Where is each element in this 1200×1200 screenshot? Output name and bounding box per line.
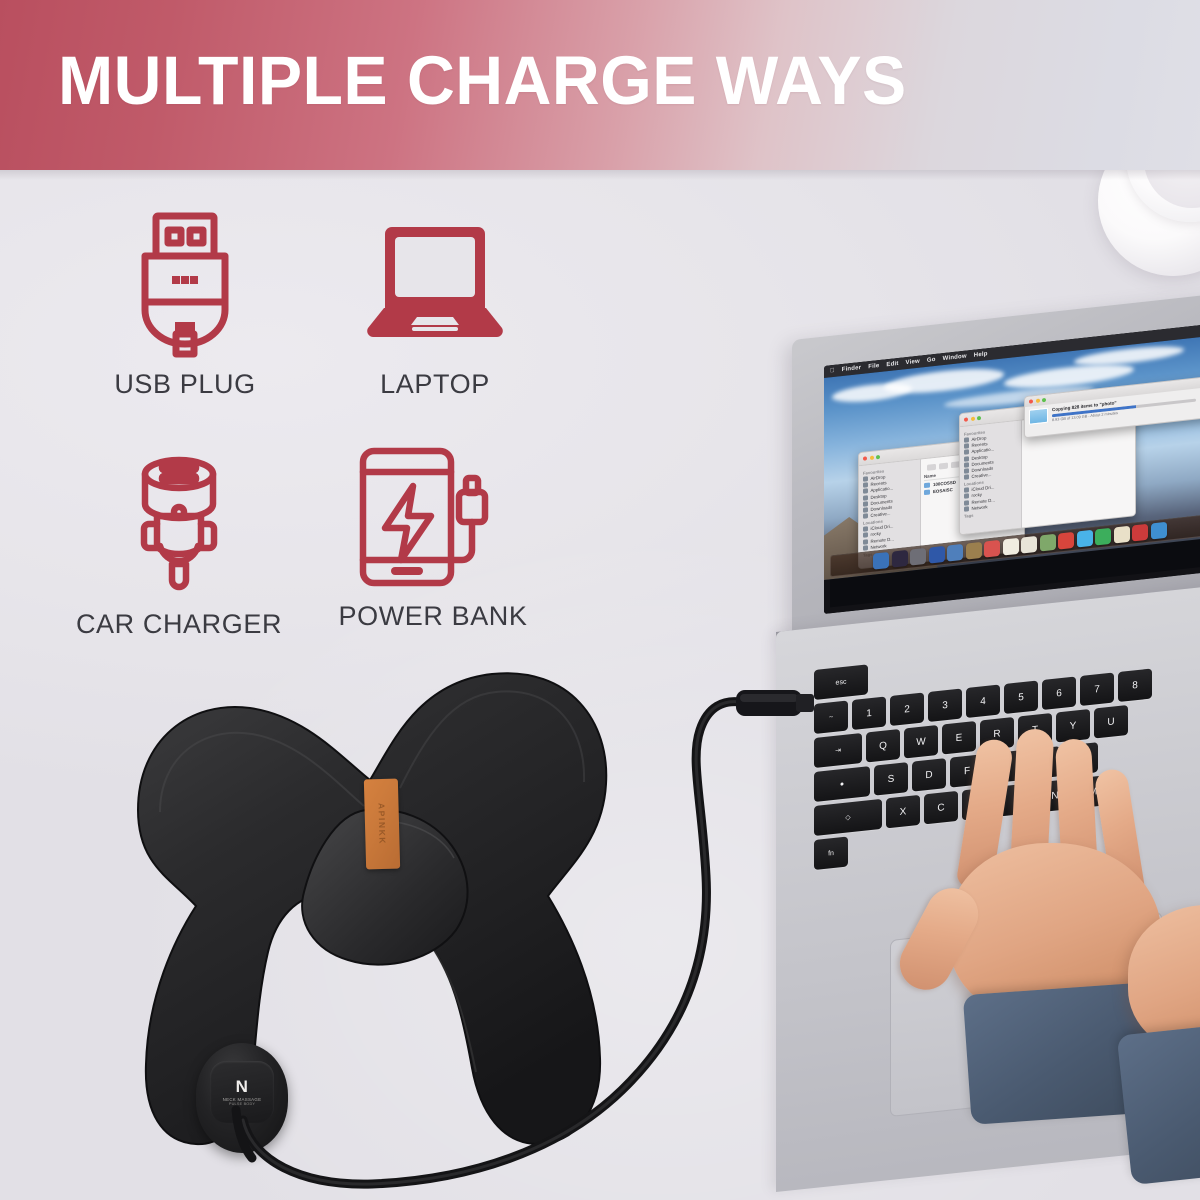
feature-laptop: LAPTOP [310,205,560,400]
feature-car-charger: CAR CHARGER [54,445,304,640]
brand-logo: N [236,1079,249,1095]
laptop-icon [310,205,560,365]
file-thumbnail [1029,408,1048,425]
close-icon[interactable] [1029,399,1033,403]
minimize-icon[interactable] [971,417,975,421]
dock-icon-finder[interactable] [873,552,889,570]
header-shadow [0,170,1200,180]
view-icon[interactable] [927,464,936,471]
brand-tag-text: APINKK [364,779,400,870]
finder-sidebar[interactable]: Favourites AirDrop Recents Applicatio...… [960,420,1022,535]
icloud-icon [964,487,969,493]
menu-view[interactable]: View [906,359,920,367]
folder-icon [863,513,868,519]
page-title: MULTIPLE CHARGE WAYS [58,42,907,120]
key-q[interactable]: Q [866,729,900,763]
airdrop-icon [964,437,969,443]
menu-help[interactable]: Help [974,351,988,359]
recents-icon [964,443,969,449]
minimize-icon[interactable] [870,456,874,460]
close-icon[interactable] [964,417,968,421]
maximize-icon[interactable] [876,455,880,459]
laptop-screen:  Finder File Edit View Go Window Help [824,323,1200,614]
massager-pad [100,660,720,1180]
key-tilde[interactable]: ~ [814,700,848,734]
key-7[interactable]: 7 [1080,672,1114,706]
control-pod[interactable]: N NECK MASSAGE PULSE BODY [196,1043,288,1153]
dock-icon-browser[interactable] [929,546,945,564]
usb-plug-icon [60,205,310,365]
network-icon [964,506,969,512]
shirt-sleeve [1117,1015,1200,1185]
airdrop-icon [863,476,868,482]
maximize-icon[interactable] [1042,398,1046,402]
documents-icon [964,462,969,468]
key-8[interactable]: 8 [1118,668,1152,702]
dock-icon-reminders[interactable] [1114,526,1130,544]
desktop-icon [964,456,969,462]
macos-desktop: Favourites AirDrop Recents Applicatio...… [824,335,1200,580]
key-esc[interactable]: esc [814,664,868,700]
dock-icon-colors[interactable] [1058,532,1074,550]
close-icon[interactable] [863,456,867,460]
feature-label: USB PLUG [60,369,310,400]
dock-icon-launchpad[interactable] [892,550,908,568]
pod-line-2: PULSE BODY [229,1102,255,1106]
applications-icon [964,450,969,456]
brand-leather-tag: APINKK [364,779,400,870]
disc-icon [863,539,868,545]
feature-label: CAR CHARGER [54,609,304,640]
dock-icon-facetime[interactable] [1095,528,1111,546]
folder-icon [964,474,969,480]
feature-power-bank: POWER BANK [308,437,558,632]
maximize-icon[interactable] [977,416,981,420]
applications-icon [863,489,868,495]
header-banner: MULTIPLE CHARGE WAYS [0,0,1200,170]
drive-icon [863,533,868,539]
key-fn[interactable]: fn [814,836,848,870]
menu-file[interactable]: File [868,363,879,370]
dock-icon-books[interactable] [1021,536,1037,554]
key-u[interactable]: U [1094,705,1128,739]
documents-icon [863,501,868,507]
icloud-icon [863,526,868,532]
network-icon [863,545,868,551]
cloud [884,364,1004,397]
menu-edit[interactable]: Edit [886,361,898,368]
folder-icon [924,482,930,488]
key-s[interactable]: S [874,762,908,796]
key-6[interactable]: 6 [1042,676,1076,710]
control-pod-face[interactable]: N NECK MASSAGE PULSE BODY [210,1061,274,1123]
dock-icon-preview[interactable] [1040,534,1056,552]
disc-icon [964,500,969,506]
key-3[interactable]: 3 [928,688,962,722]
key-2[interactable]: 2 [890,692,924,726]
power-bank-icon [308,437,558,597]
downloads-icon [863,507,868,513]
car-charger-icon [54,445,304,605]
dock-icon-photos[interactable] [947,544,963,562]
dock-icon-appstore[interactable] [1151,522,1167,540]
dock-icon-messages[interactable] [1077,530,1093,548]
feature-label: POWER BANK [308,601,558,632]
desktop-icon [863,495,868,501]
downloads-icon [964,468,969,474]
dock-icon-pages[interactable] [1003,538,1019,556]
feature-label: LAPTOP [310,369,560,400]
key-1[interactable]: 1 [852,696,886,730]
folder-icon [924,489,930,495]
key-capslock[interactable]: ● [814,766,870,802]
feature-usb-plug: USB PLUG [60,205,310,400]
view-icon[interactable] [939,463,948,470]
apple-logo-icon[interactable]:  [830,367,835,376]
drive-icon [964,494,969,500]
dock-icon-safari[interactable] [910,548,926,566]
key-shift[interactable]: ◇ [814,799,882,836]
menu-go[interactable]: Go [927,357,936,364]
charge-methods-grid: USB PLUG LAPTOP [60,205,600,665]
dock-icon-calendar[interactable] [984,540,1000,558]
key-tab[interactable]: ⇥ [814,733,862,768]
minimize-icon[interactable] [1036,399,1040,403]
menu-finder[interactable]: Finder [842,365,862,373]
key-4[interactable]: 4 [966,684,1000,718]
key-5[interactable]: 5 [1004,680,1038,714]
menu-window[interactable]: Window [943,353,967,362]
dock-icon-notes[interactable] [966,542,982,560]
left-hand [1128,905,1200,1200]
product-feature-image: MULTIPLE CHARGE WAYS [0,0,1200,1200]
recents-icon [863,482,868,488]
dock-icon-numbers[interactable] [1132,524,1148,542]
